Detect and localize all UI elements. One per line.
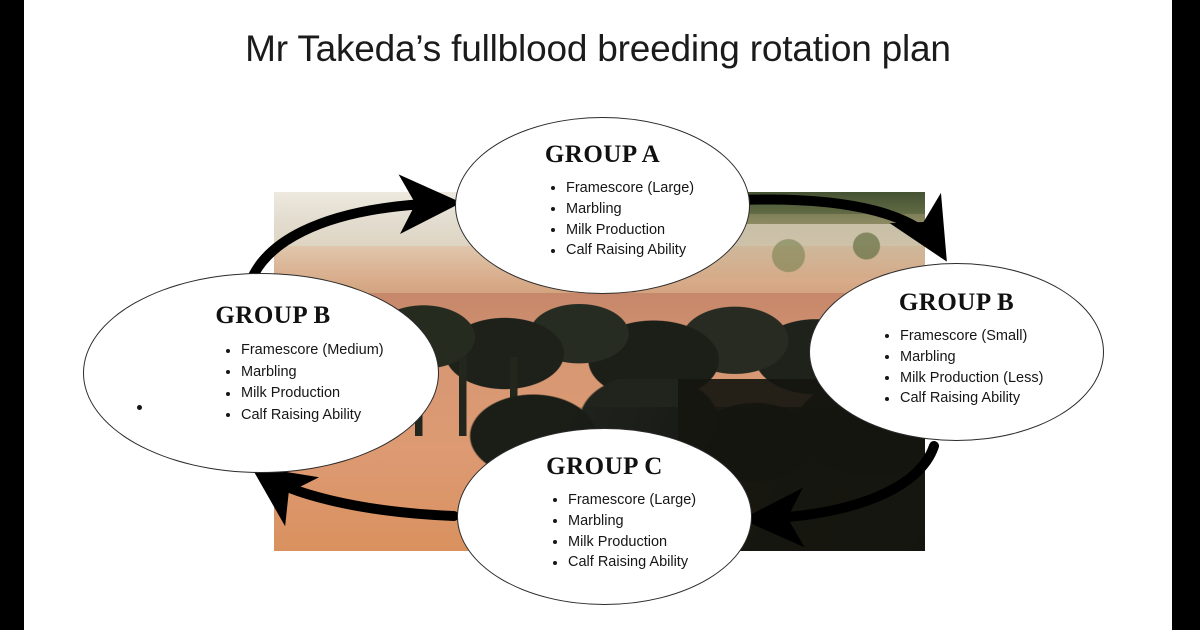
list-item: Framescore (Large)	[550, 178, 749, 199]
list-item: Marbling	[550, 199, 749, 220]
list-item: Milk Production	[225, 383, 438, 405]
list-item: Milk Production	[552, 532, 751, 553]
list-item: Milk Production	[550, 220, 749, 241]
list-item: Calf Raising Ability	[225, 405, 438, 427]
list-item: Calf Raising Ability	[550, 240, 749, 261]
page-title: Mr Takeda’s fullblood breeding rotation …	[24, 28, 1172, 70]
group-a-bubble[interactable]: GROUP A Framescore (Large) Marbling Milk…	[455, 117, 750, 294]
group-c-bubble[interactable]: GROUP C Framescore (Large) Marbling Milk…	[457, 428, 752, 605]
group-b-left-bullet-list: Framescore (Medium) Marbling Milk Produc…	[225, 340, 438, 426]
group-c-title: GROUP C	[458, 453, 751, 481]
list-item: Framescore (Large)	[552, 490, 751, 511]
group-b-left-bubble[interactable]: GROUP B Framescore (Medium) Marbling Mil…	[83, 273, 439, 473]
list-item: Framescore (Small)	[884, 326, 1103, 347]
list-item: Marbling	[225, 362, 438, 384]
slide-canvas: Mr Takeda’s fullblood breeding rotation …	[24, 0, 1172, 630]
group-b-left-title: GROUP B	[84, 302, 438, 330]
group-a-title: GROUP A	[456, 141, 749, 169]
group-b-right-bullet-list: Framescore (Small) Marbling Milk Product…	[884, 326, 1103, 409]
list-item: Calf Raising Ability	[552, 552, 751, 573]
group-b-right-bubble[interactable]: GROUP B Framescore (Small) Marbling Milk…	[809, 263, 1104, 441]
group-b-right-title: GROUP B	[810, 289, 1103, 317]
list-item: Milk Production (Less)	[884, 368, 1103, 389]
list-item: Calf Raising Ability	[884, 388, 1103, 409]
group-c-bullet-list: Framescore (Large) Marbling Milk Product…	[552, 490, 751, 573]
list-item: Marbling	[552, 511, 751, 532]
orphan-bullet-dot	[137, 405, 142, 410]
list-item: Marbling	[884, 347, 1103, 368]
list-item: Framescore (Medium)	[225, 340, 438, 362]
slide-stage: Mr Takeda’s fullblood breeding rotation …	[0, 0, 1200, 630]
group-a-bullet-list: Framescore (Large) Marbling Milk Product…	[550, 178, 749, 261]
